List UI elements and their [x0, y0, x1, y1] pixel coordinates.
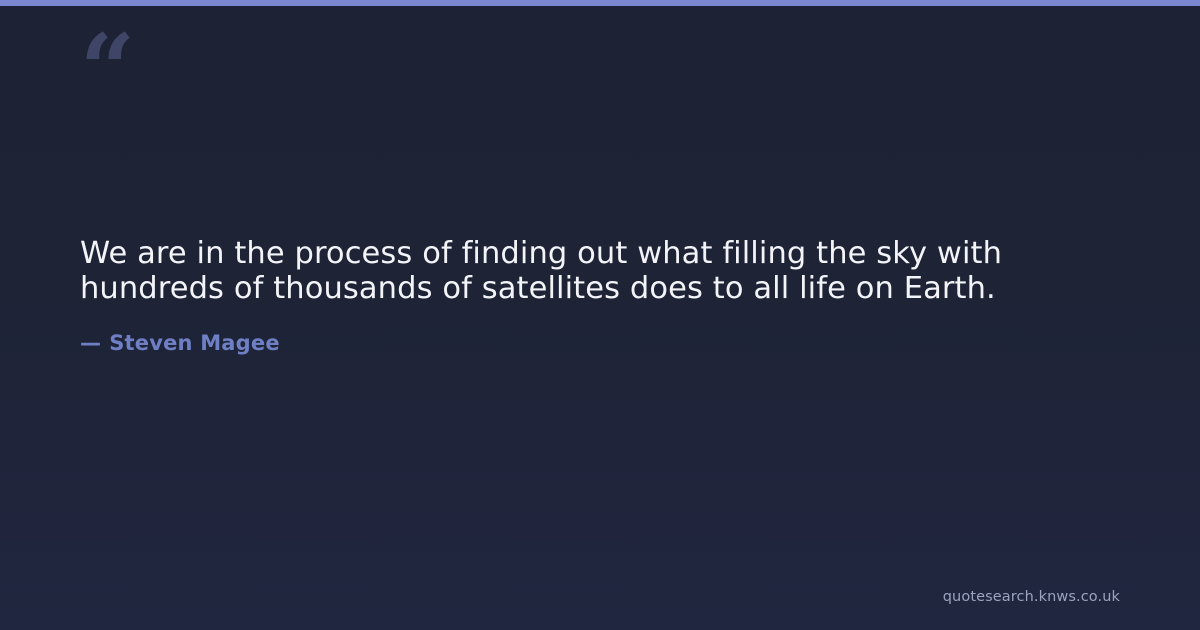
- quotation-mark-icon: “: [80, 22, 133, 118]
- quote-attribution: —Steven Magee: [80, 306, 1080, 354]
- attribution-author: Steven Magee: [109, 331, 280, 355]
- site-watermark: quotesearch.knws.co.uk: [943, 590, 1120, 605]
- quote-text: We are in the process of finding out wha…: [80, 236, 1055, 306]
- quote-card: “ We are in the process of finding out w…: [0, 0, 1200, 630]
- top-accent-bar: [0, 0, 1200, 6]
- quote-content: We are in the process of finding out wha…: [80, 236, 1080, 354]
- attribution-dash: —: [80, 331, 101, 355]
